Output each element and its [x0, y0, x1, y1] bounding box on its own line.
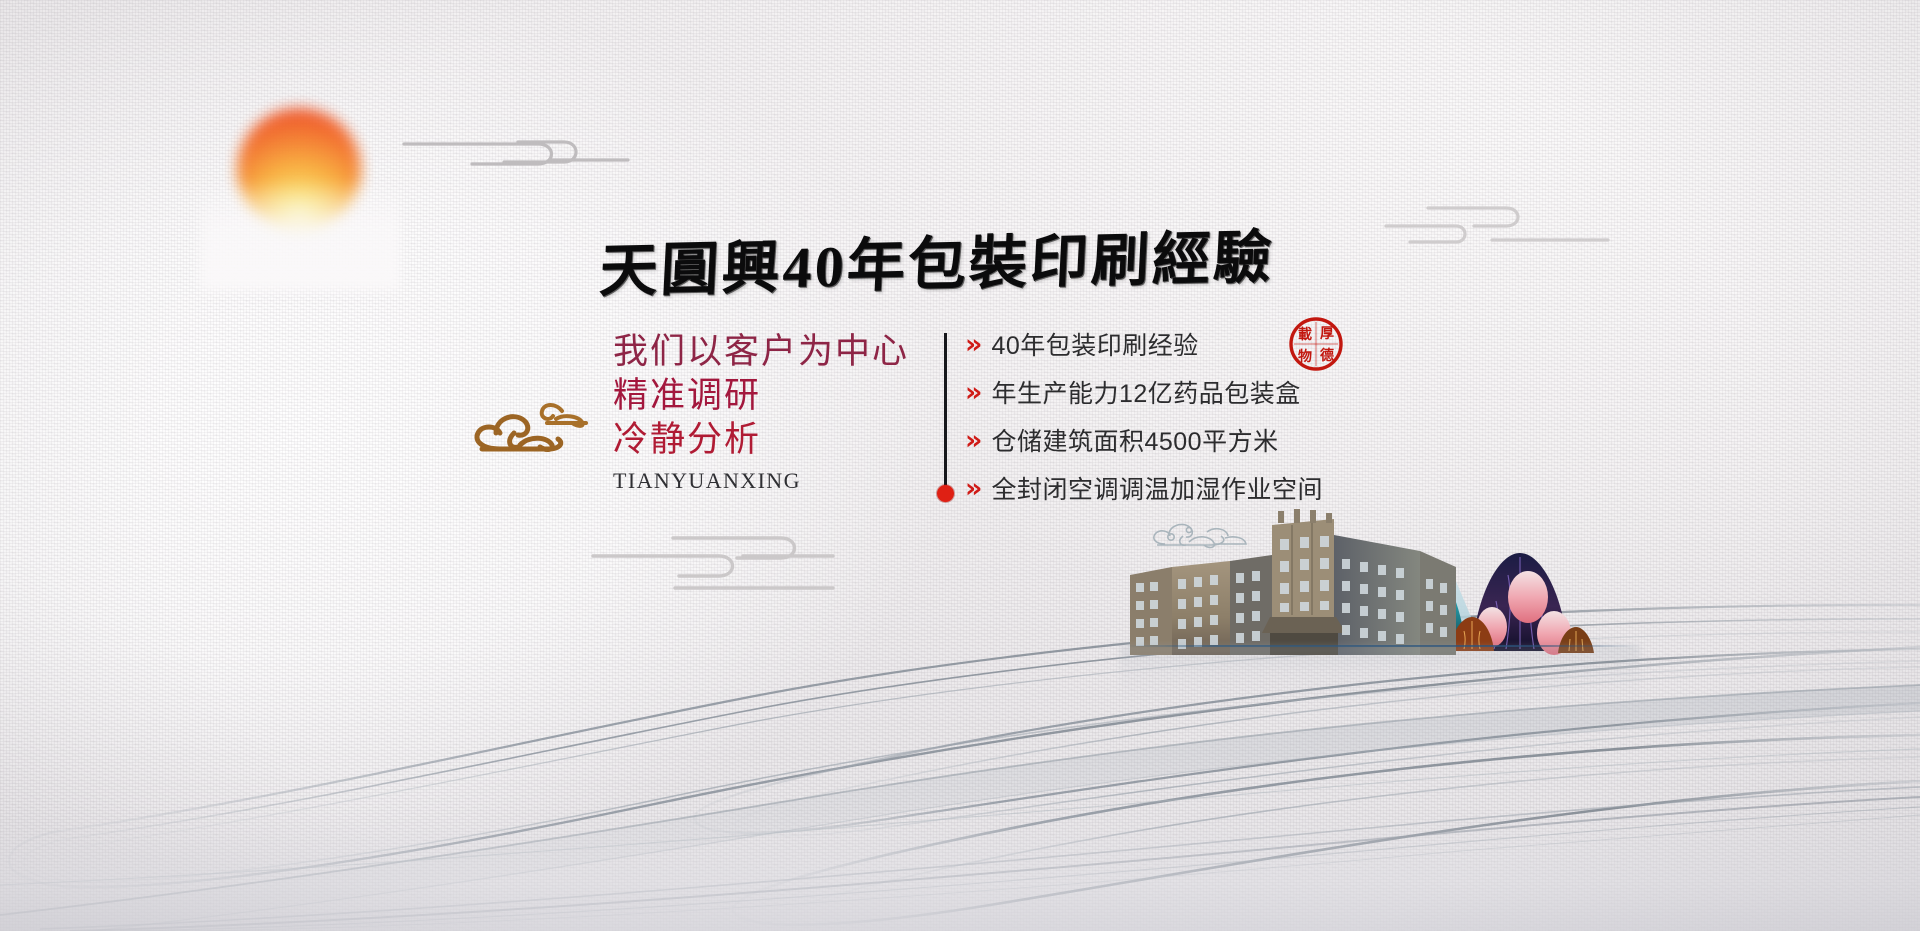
slogan-line-3: 冷静分析: [613, 418, 943, 462]
list-item: » 年生产能力12亿药品包装盒: [965, 373, 1323, 411]
seal-char-bottom-left: 物: [1298, 348, 1312, 365]
slogan-pinyin: TIANYUANXING: [613, 468, 943, 494]
chevron-right-icon: »: [965, 475, 982, 502]
ground-line: [1125, 645, 1637, 647]
page-title: 天圓興40年包裝印刷經驗: [598, 229, 1276, 301]
bottom-fade-overlay: [0, 811, 1920, 931]
cloud-line-icon: [400, 120, 630, 180]
sun-fade-mask: [200, 180, 400, 290]
seal-char-bottom-right: 德: [1320, 347, 1334, 364]
chevron-right-icon: »: [965, 379, 982, 406]
slogan-line-1: 我们以客户为中心: [613, 330, 943, 374]
seal-char-top-right: 厚: [1320, 326, 1334, 342]
chevron-right-icon: »: [965, 427, 982, 454]
slogan-line-2: 精准调研: [613, 374, 943, 418]
list-item: » 仓储建筑面积4500平方米: [965, 421, 1323, 459]
list-item-label: 全封闭空调调温加湿作业空间: [991, 470, 1323, 506]
building-and-mountain-illustration: [1120, 505, 1640, 665]
seal-char-top-left: 載: [1298, 326, 1312, 343]
feature-list: » 40年包装印刷经验 » 年生产能力12亿药品包装盒 » 仓储建筑面积4500…: [965, 325, 1323, 517]
banner-root: 天圓興40年包裝印刷經驗 我们以客户为中心 精准调研 冷静分析 TIANYUAN…: [0, 0, 1920, 931]
vertical-divider: [944, 333, 947, 488]
divider-dot-icon: [937, 485, 954, 502]
office-building: [1130, 509, 1456, 655]
list-item-label: 仓储建筑面积4500平方米: [991, 422, 1278, 458]
gold-cloud-icon: [452, 383, 612, 469]
cloud-line-icon: [1382, 188, 1612, 246]
list-item: » 40年包装印刷经验: [965, 325, 1323, 363]
list-item-label: 年生产能力12亿药品包装盒: [991, 374, 1300, 410]
slogan-block: 我们以客户为中心 精准调研 冷静分析 TIANYUANXING: [613, 330, 943, 494]
chevron-right-icon: »: [965, 331, 982, 358]
company-seal-icon: 載 厚 物 德: [1288, 316, 1344, 372]
list-item: » 全封闭空调调温加湿作业空间: [965, 469, 1323, 507]
cloud-line-icon: [585, 532, 835, 602]
list-item-label: 40年包装印刷经验: [991, 326, 1198, 362]
